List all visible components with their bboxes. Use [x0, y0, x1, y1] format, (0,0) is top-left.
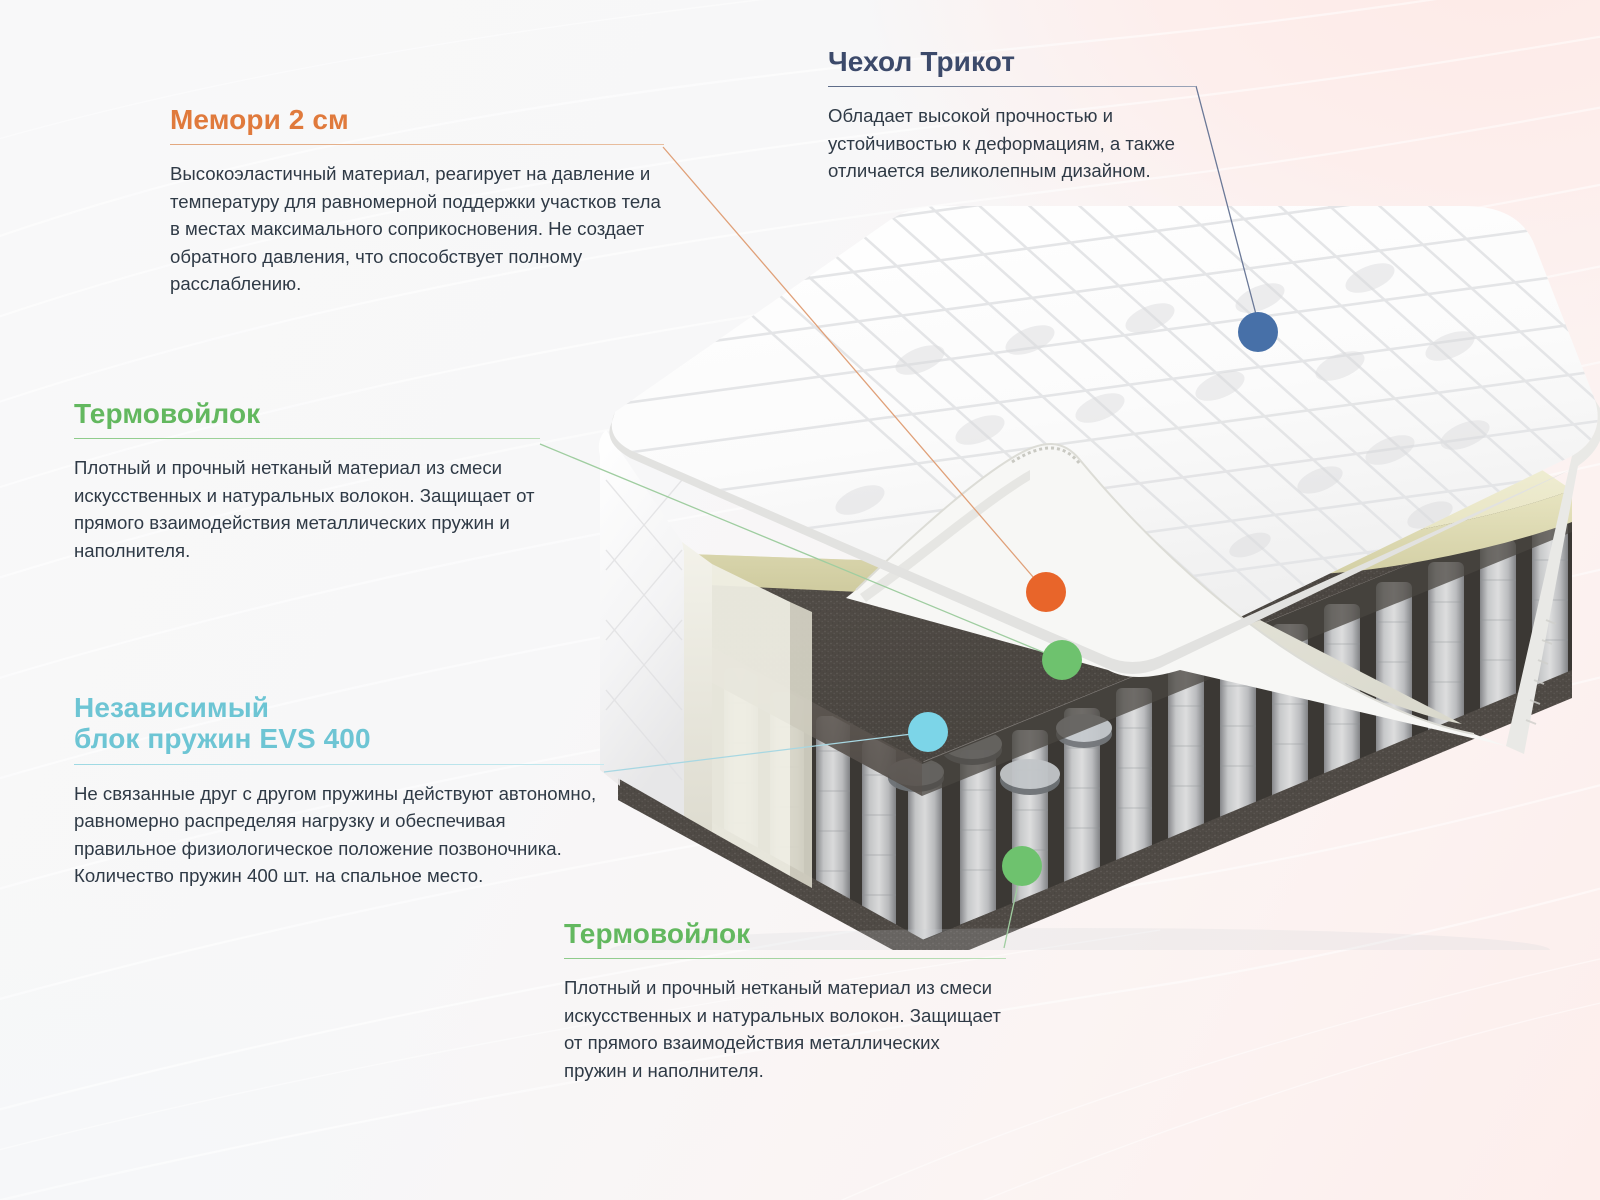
callout-memory-heading: Мемори 2 см	[170, 104, 664, 135]
marker-dot-felt-top[interactable]	[1042, 640, 1082, 680]
marker-dot-cover[interactable]	[1238, 312, 1278, 352]
callout-cover-heading: Чехол Трикот	[828, 46, 1196, 77]
callout-springs-heading: Независимый блок пружин EVS 400	[74, 692, 604, 755]
mattress-illustration	[560, 150, 1600, 950]
marker-dot-felt-bottom[interactable]	[1002, 846, 1042, 886]
callout-felt-bottom-body: Плотный и прочный нетканый материал из с…	[564, 974, 1006, 1084]
callout-memory: Мемори 2 см Высокоэластичный материал, р…	[170, 104, 664, 298]
callout-cover: Чехол Трикот Обладает высокой прочностью…	[828, 46, 1196, 185]
callout-felt-top-body: Плотный и прочный нетканый материал из с…	[74, 454, 540, 564]
callout-felt-bottom-rule	[564, 958, 1006, 959]
callout-felt-bottom-heading: Термовойлок	[564, 918, 1006, 949]
mattress-cutaway-svg	[560, 150, 1600, 950]
callout-springs-rule	[74, 764, 604, 765]
marker-dot-memory[interactable]	[1026, 572, 1066, 612]
marker-dot-springs[interactable]	[908, 712, 948, 752]
callout-springs-body: Не связанные друг с другом пружины дейст…	[74, 780, 604, 890]
callout-cover-rule	[828, 86, 1196, 87]
callout-felt-top: Термовойлок Плотный и прочный нетканый м…	[74, 398, 540, 564]
callout-springs: Независимый блок пружин EVS 400 Не связа…	[74, 692, 604, 890]
callout-felt-top-heading: Термовойлок	[74, 398, 540, 429]
callout-cover-body: Обладает высокой прочностью и устойчивос…	[828, 102, 1196, 185]
callout-memory-rule	[170, 144, 664, 145]
callout-memory-body: Высокоэластичный материал, реагирует на …	[170, 160, 664, 298]
infographic-canvas: Мемори 2 см Высокоэластичный материал, р…	[0, 0, 1600, 1200]
callout-felt-top-rule	[74, 438, 540, 439]
callout-felt-bottom: Термовойлок Плотный и прочный нетканый м…	[564, 918, 1006, 1084]
